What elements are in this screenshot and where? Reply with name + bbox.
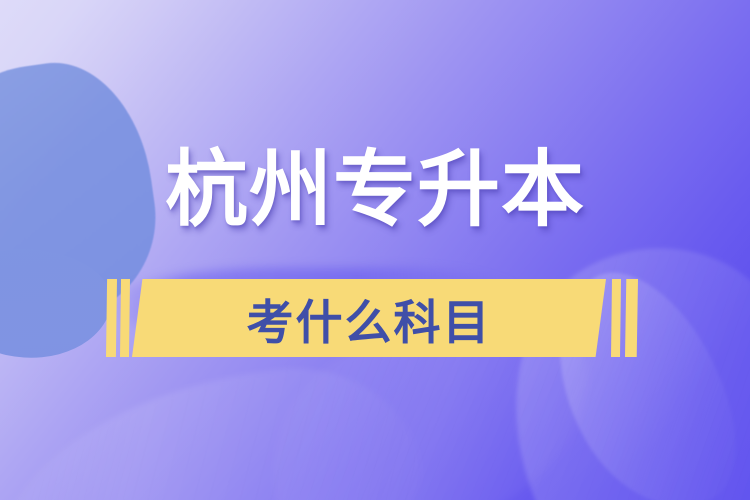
subtitle-ribbon: 考什么科目 (106, 279, 644, 357)
banner-headline: 杭州专升本 (0, 143, 750, 236)
banner-subtitle: 考什么科目 (132, 279, 606, 357)
promo-banner: 杭州专升本 考什么科目 (0, 0, 750, 500)
ribbon-accent-bar-inner-left (120, 279, 130, 357)
ribbon-accent-bar-outer-right (625, 279, 638, 357)
ribbon-accent-bar-outer-left (106, 279, 117, 357)
ribbon-accent-bar-inner-right (611, 279, 621, 357)
